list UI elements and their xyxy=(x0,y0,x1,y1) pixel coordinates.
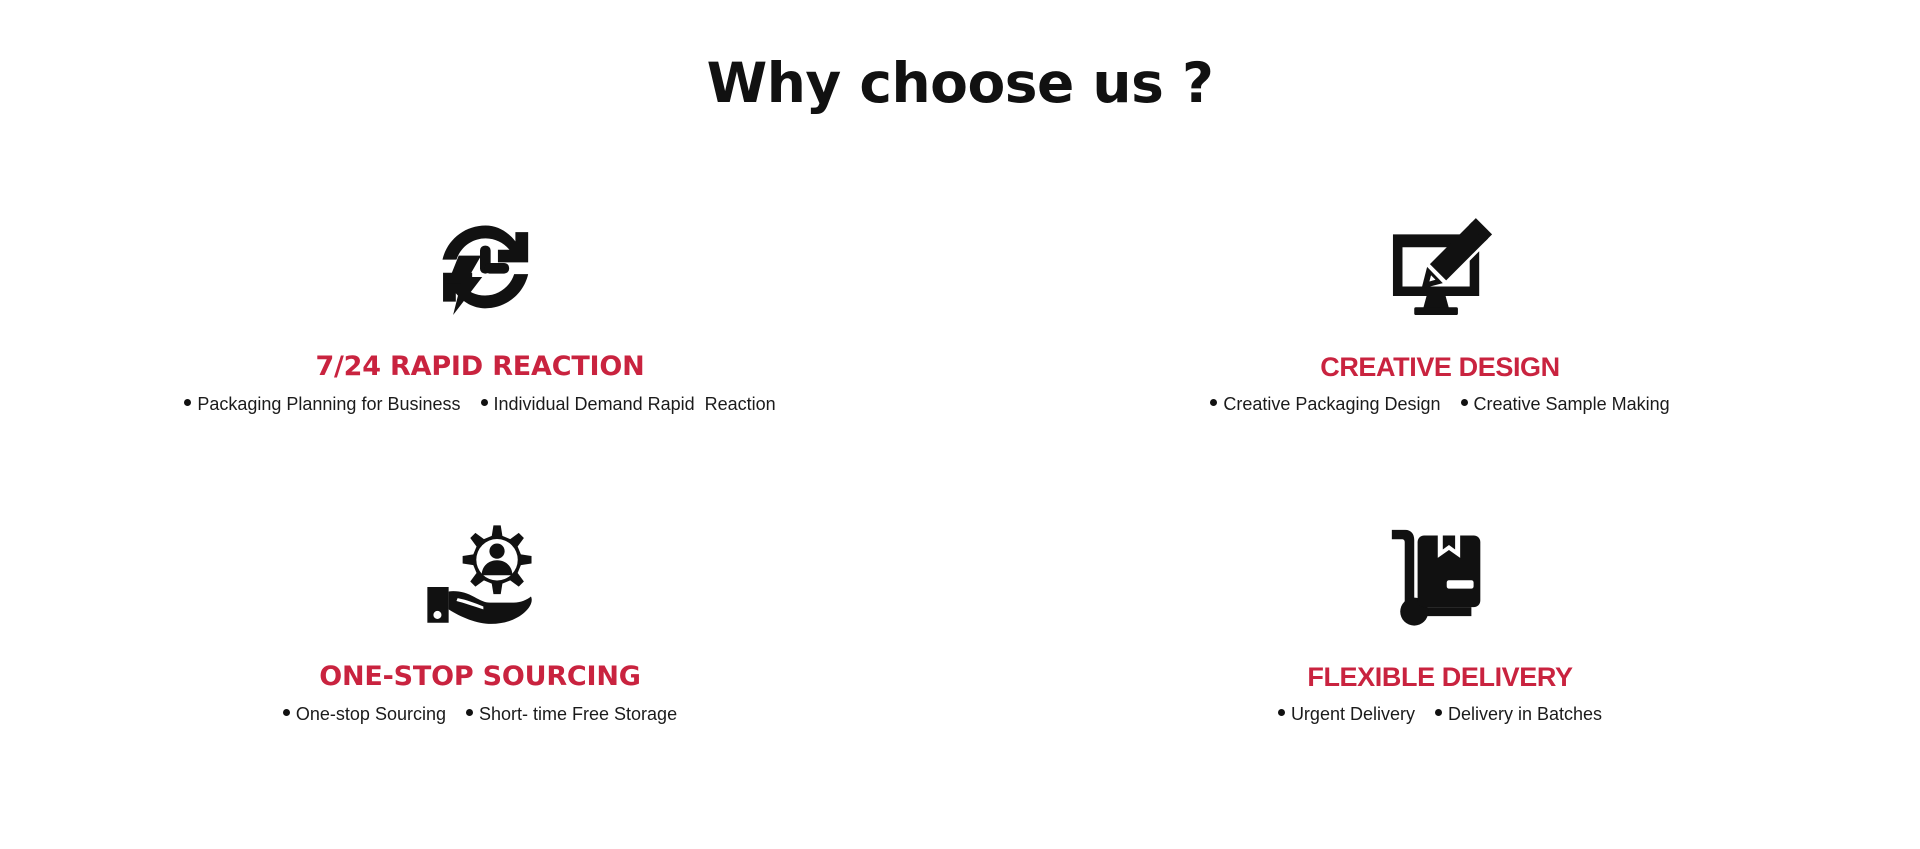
monitor-pencil-icon xyxy=(1381,209,1499,327)
feature-card-flexible-delivery: FLEXIBLE DELIVERY Urgent Delivery Delive… xyxy=(960,485,1920,795)
bullet-dot-icon xyxy=(466,709,473,716)
feature-title: ONE-STOP SOURCING xyxy=(319,661,641,693)
bullet-dot-icon xyxy=(1435,709,1442,716)
feature-title: CREATIVE DESIGN xyxy=(1320,351,1560,383)
list-item-label: Delivery in Batches xyxy=(1448,702,1602,726)
list-item: Creative Sample Making xyxy=(1461,392,1670,416)
list-item-label: Urgent Delivery xyxy=(1291,702,1415,726)
list-item-label: Short- time Free Storage xyxy=(479,702,677,726)
clock-refresh-lightning-icon xyxy=(421,209,539,327)
why-choose-us-section: Why choose us ? 7/24 RAPID REACTION xyxy=(0,0,1920,849)
feature-bullet-list: Urgent Delivery Delivery in Batches xyxy=(1278,702,1602,726)
feature-bullet-list: Packaging Planning for Business Individu… xyxy=(184,392,775,416)
bullet-dot-icon xyxy=(1278,709,1285,716)
list-item: Short- time Free Storage xyxy=(466,702,677,726)
list-item: Creative Packaging Design xyxy=(1210,392,1440,416)
bullet-dot-icon xyxy=(283,709,290,716)
feature-card-one-stop-sourcing: ONE-STOP SOURCING One-stop Sourcing Shor… xyxy=(0,485,960,795)
list-item-label: Packaging Planning for Business xyxy=(197,392,460,416)
bullet-dot-icon xyxy=(184,399,191,406)
list-item-label: Creative Packaging Design xyxy=(1223,392,1440,416)
feature-title: 7/24 RAPID REACTION xyxy=(315,351,644,383)
bullet-dot-icon xyxy=(1461,399,1468,406)
hand-gear-person-icon xyxy=(421,519,539,637)
list-item-label: Creative Sample Making xyxy=(1474,392,1670,416)
feature-card-rapid-reaction: 7/24 RAPID REACTION Packaging Planning f… xyxy=(0,175,960,485)
bullet-dot-icon xyxy=(481,399,488,406)
hand-truck-box-icon xyxy=(1381,519,1499,637)
feature-grid: 7/24 RAPID REACTION Packaging Planning f… xyxy=(0,175,1920,795)
list-item-label: One-stop Sourcing xyxy=(296,702,446,726)
feature-title: FLEXIBLE DELIVERY xyxy=(1307,661,1572,693)
list-item: Packaging Planning for Business xyxy=(184,392,460,416)
list-item-label: Individual Demand Rapid Reaction xyxy=(494,392,776,416)
feature-bullet-list: Creative Packaging Design Creative Sampl… xyxy=(1210,392,1669,416)
feature-bullet-list: One-stop Sourcing Short- time Free Stora… xyxy=(283,702,677,726)
list-item: Delivery in Batches xyxy=(1435,702,1602,726)
list-item: Urgent Delivery xyxy=(1278,702,1415,726)
page-title: Why choose us ? xyxy=(0,48,1920,118)
bullet-dot-icon xyxy=(1210,399,1217,406)
list-item: Individual Demand Rapid Reaction xyxy=(481,392,776,416)
list-item: One-stop Sourcing xyxy=(283,702,446,726)
feature-card-creative-design: CREATIVE DESIGN Creative Packaging Desig… xyxy=(960,175,1920,485)
